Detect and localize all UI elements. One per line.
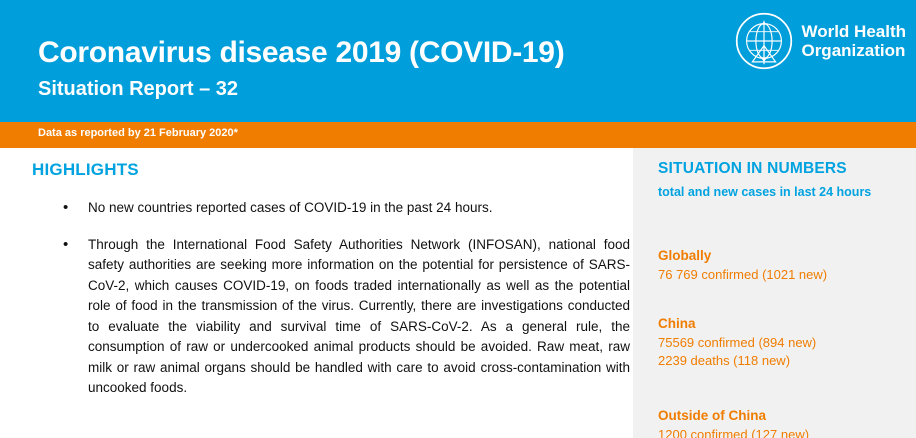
stat-block-globally: Globally 76 769 confirmed (1021 new) — [658, 248, 908, 284]
stat-block-outside-china: Outside of China 1200 confirmed (127 new… — [658, 408, 908, 438]
stat-heading: Outside of China — [658, 408, 908, 423]
situation-title: SITUATION IN NUMBERS — [658, 160, 847, 178]
body-area: HIGHLIGHTS No new countries reported cas… — [0, 148, 916, 438]
stat-line: 2239 deaths (118 new) — [658, 352, 908, 370]
data-reported-bar: Data as reported by 21 February 2020* — [0, 122, 916, 148]
highlights-bullet-list: No new countries reported cases of COVID… — [30, 198, 630, 415]
stat-heading: Globally — [658, 248, 908, 263]
list-item: No new countries reported cases of COVID… — [30, 198, 630, 219]
data-reported-text: Data as reported by 21 February 2020* — [38, 127, 238, 139]
highlights-section: HIGHLIGHTS No new countries reported cas… — [0, 148, 630, 438]
stat-line: 76 769 confirmed (1021 new) — [658, 266, 908, 284]
page-title: Coronavirus disease 2019 (COVID-19) — [38, 36, 564, 70]
situation-subtitle: total and new cases in last 24 hours — [658, 184, 896, 201]
stat-block-china: China 75569 confirmed (894 new) 2239 dea… — [658, 316, 908, 371]
page-subtitle: Situation Report – 32 — [38, 78, 238, 101]
page-header: Coronavirus disease 2019 (COVID-19) Situ… — [0, 0, 916, 122]
who-logo-line1: World Health — [801, 22, 906, 41]
situation-report-page: Coronavirus disease 2019 (COVID-19) Situ… — [0, 0, 916, 438]
stat-heading: China — [658, 316, 908, 331]
who-emblem-icon — [735, 12, 793, 70]
stat-line: 75569 confirmed (894 new) — [658, 334, 908, 352]
who-logo: World Health Organization — [735, 10, 906, 72]
who-logo-line2: Organization — [801, 41, 906, 60]
stat-line: 1200 confirmed (127 new) — [658, 426, 908, 438]
who-logo-text: World Health Organization — [801, 22, 906, 60]
situation-in-numbers-panel: SITUATION IN NUMBERS total and new cases… — [630, 148, 916, 438]
highlights-title: HIGHLIGHTS — [32, 160, 139, 180]
list-item: Through the International Food Safety Au… — [30, 235, 630, 399]
